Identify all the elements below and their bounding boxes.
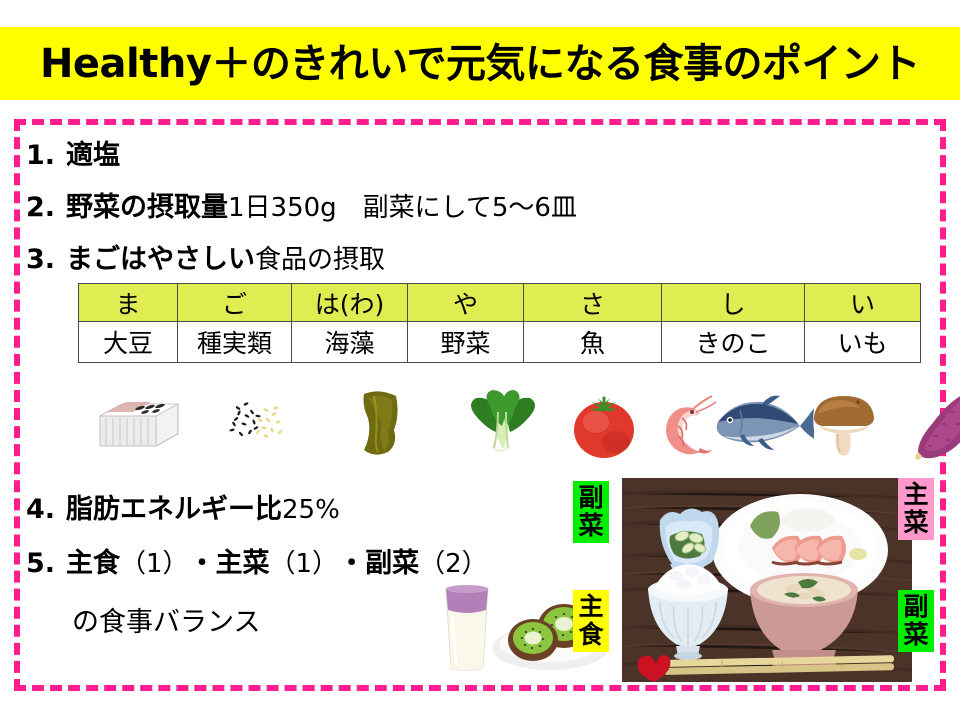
list-item-4-number: 4. (26, 494, 66, 525)
sesame-seeds-icon (208, 386, 328, 462)
tag-char-top: 主 (573, 593, 609, 621)
natto-pack-icon (78, 386, 198, 462)
list-item-3-detail: 食品の摂取 (255, 239, 385, 276)
table-header-cell: は(わ) (292, 284, 408, 322)
list-item-4: 4. 脂肪エネルギー比 25% (26, 487, 340, 526)
balanced-meal-photo (622, 478, 912, 682)
tag-char-bottom: 食 (573, 621, 609, 649)
tag-char-top: 副 (898, 593, 934, 621)
list-item-1-number: 1. (26, 140, 66, 171)
list-item-5-fukusai-count: （2） (419, 543, 488, 580)
list-item-5-fukusai: 副菜 (365, 541, 419, 580)
tag-char-bottom: 菜 (898, 621, 934, 649)
table-header-cell: い (805, 284, 921, 322)
food-illustration-strip (68, 386, 936, 462)
list-item-3-strong: まごはやさしい (66, 237, 255, 276)
list-item-5-continuation: の食事バランス (72, 600, 260, 639)
list-item-5-number: 5. (26, 548, 66, 579)
list-item-4-detail: 25% (282, 495, 340, 525)
table-cell: いも (805, 322, 921, 363)
list-item-2-strong: 野菜の摂取量 (66, 185, 228, 224)
table-row: 大豆 種実類 海藻 野菜 魚 きのこ いも (79, 322, 921, 363)
tag-fukusai-top-left: 副 菜 (573, 481, 609, 543)
table-cell: 魚 (524, 322, 662, 363)
list-item-2-detail: 1日350g 副菜にして5〜6皿 (228, 187, 577, 224)
table-header-cell: ま (79, 284, 178, 322)
list-item-5-sep-b: ・ (338, 541, 365, 580)
table-cell: 野菜 (408, 322, 524, 363)
table-header-cell: や (408, 284, 524, 322)
table-cell: きのこ (662, 322, 805, 363)
list-item-3: 3. まごはやさしい 食品の摂取 (26, 237, 385, 276)
list-item-5: 5. 主食 （1） ・ 主菜 （1） ・ 副菜 （2） (26, 541, 488, 580)
table-cell: 種実類 (178, 322, 292, 363)
table-cell: 海藻 (292, 322, 408, 363)
table-cell: 大豆 (79, 322, 178, 363)
list-item-5-shusai: 主菜 (216, 541, 270, 580)
list-item-5-shusai-count: （1） (270, 543, 339, 580)
sweet-potato-icon (888, 386, 960, 462)
slide-root: Healthy＋のきれいで元気になる食事のポイント 1. 適塩 2. 野菜の摂取… (0, 0, 960, 720)
page-title: Healthy＋のきれいで元気になる食事のポイント (40, 44, 920, 84)
list-item-2: 2. 野菜の摂取量 1日350g 副菜にして5〜6皿 (26, 185, 577, 224)
table-header-row: ま ご は(わ) や さ し い (79, 284, 921, 322)
list-item-1-strong: 適塩 (66, 133, 120, 172)
list-item-5-shushoku: 主食 (66, 541, 120, 580)
list-item-5-continuation-text: の食事バランス (72, 600, 260, 639)
mushroom-icon (784, 386, 904, 462)
table-header-cell: し (662, 284, 805, 322)
table-header-cell: ご (178, 284, 292, 322)
tag-fukusai-bottom-right: 副 菜 (898, 590, 934, 652)
list-item-2-number: 2. (26, 192, 66, 223)
tag-shusai-top-right: 主 菜 (898, 478, 934, 540)
list-item-3-number: 3. (26, 244, 66, 275)
tag-char-top: 主 (898, 481, 934, 509)
table-header-cell: さ (524, 284, 662, 322)
list-item-5-sep-a: ・ (189, 541, 216, 580)
seaweed-kombu-icon (330, 386, 450, 462)
title-banner: Healthy＋のきれいで元気になる食事のポイント (0, 27, 960, 100)
tag-char-top: 副 (573, 484, 609, 512)
tag-shushoku-bottom-left: 主 食 (573, 590, 609, 652)
tag-char-bottom: 菜 (898, 509, 934, 537)
list-item-4-strong: 脂肪エネルギー比 (66, 487, 282, 526)
glass-of-milk-icon (446, 585, 488, 671)
tag-char-bottom: 菜 (573, 512, 609, 540)
mago-wa-yasashii-table: ま ご は(わ) や さ し い 大豆 種実類 海藻 野菜 魚 きのこ いも (78, 283, 921, 363)
list-item-5-shushoku-count: （1） (120, 543, 189, 580)
list-item-1: 1. 適塩 (26, 133, 120, 172)
